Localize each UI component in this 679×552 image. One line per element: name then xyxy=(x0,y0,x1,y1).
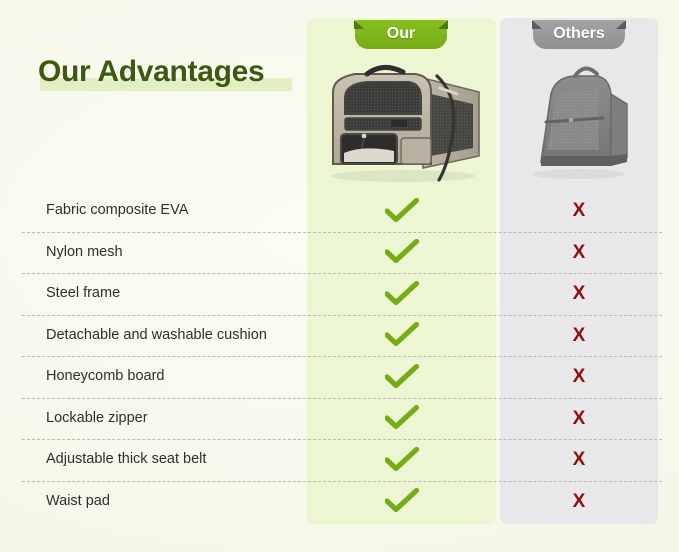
others-cell-cross: X xyxy=(500,439,658,481)
table-row: Nylon meshX xyxy=(0,232,679,274)
check-icon xyxy=(385,364,419,390)
others-product-image xyxy=(515,58,643,184)
check-icon xyxy=(385,405,419,431)
our-cell-check xyxy=(307,315,496,357)
table-row: Lockable zipperX xyxy=(0,398,679,440)
feature-label: Waist pad xyxy=(46,481,110,523)
others-column-label: Others xyxy=(533,20,625,48)
feature-label: Honeycomb board xyxy=(46,356,165,398)
others-cell-cross: X xyxy=(500,481,658,523)
table-row: Adjustable thick seat beltX xyxy=(0,439,679,481)
comparison-table: Fabric composite EVAXNylon meshXSteel fr… xyxy=(0,190,679,522)
table-row: Fabric composite EVAX xyxy=(0,190,679,232)
our-column-label: Our xyxy=(355,20,447,48)
check-icon xyxy=(385,488,419,514)
table-row: Steel frameX xyxy=(0,273,679,315)
our-cell-check xyxy=(307,232,496,274)
page-title-group: Our Advantages xyxy=(38,52,300,98)
feature-label: Detachable and washable cushion xyxy=(46,315,267,357)
our-product-image xyxy=(311,52,493,184)
check-icon xyxy=(385,198,419,224)
others-cell-cross: X xyxy=(500,356,658,398)
feature-label: Adjustable thick seat belt xyxy=(46,439,206,481)
others-cell-cross: X xyxy=(500,398,658,440)
comparison-infographic: Our Advantages xyxy=(0,0,679,552)
others-cell-cross: X xyxy=(500,190,658,232)
others-cell-cross: X xyxy=(500,232,658,274)
feature-label: Nylon mesh xyxy=(46,232,123,274)
feature-label: Fabric composite EVA xyxy=(46,190,188,232)
table-row: Detachable and washable cushionX xyxy=(0,315,679,357)
page-title: Our Advantages xyxy=(38,52,264,92)
our-cell-check xyxy=(307,439,496,481)
feature-label: Steel frame xyxy=(46,273,120,315)
our-cell-check xyxy=(307,398,496,440)
others-column-header: Others xyxy=(533,20,625,49)
others-cell-cross: X xyxy=(500,273,658,315)
our-cell-check xyxy=(307,273,496,315)
feature-label: Lockable zipper xyxy=(46,398,148,440)
table-row: Honeycomb boardX xyxy=(0,356,679,398)
our-cell-check xyxy=(307,481,496,523)
check-icon xyxy=(385,281,419,307)
check-icon xyxy=(385,239,419,265)
check-icon xyxy=(385,447,419,473)
others-cell-cross: X xyxy=(500,315,658,357)
our-column-header: Our xyxy=(355,20,447,49)
check-icon xyxy=(385,322,419,348)
our-cell-check xyxy=(307,356,496,398)
our-cell-check xyxy=(307,190,496,232)
table-row: Waist padX xyxy=(0,481,679,523)
